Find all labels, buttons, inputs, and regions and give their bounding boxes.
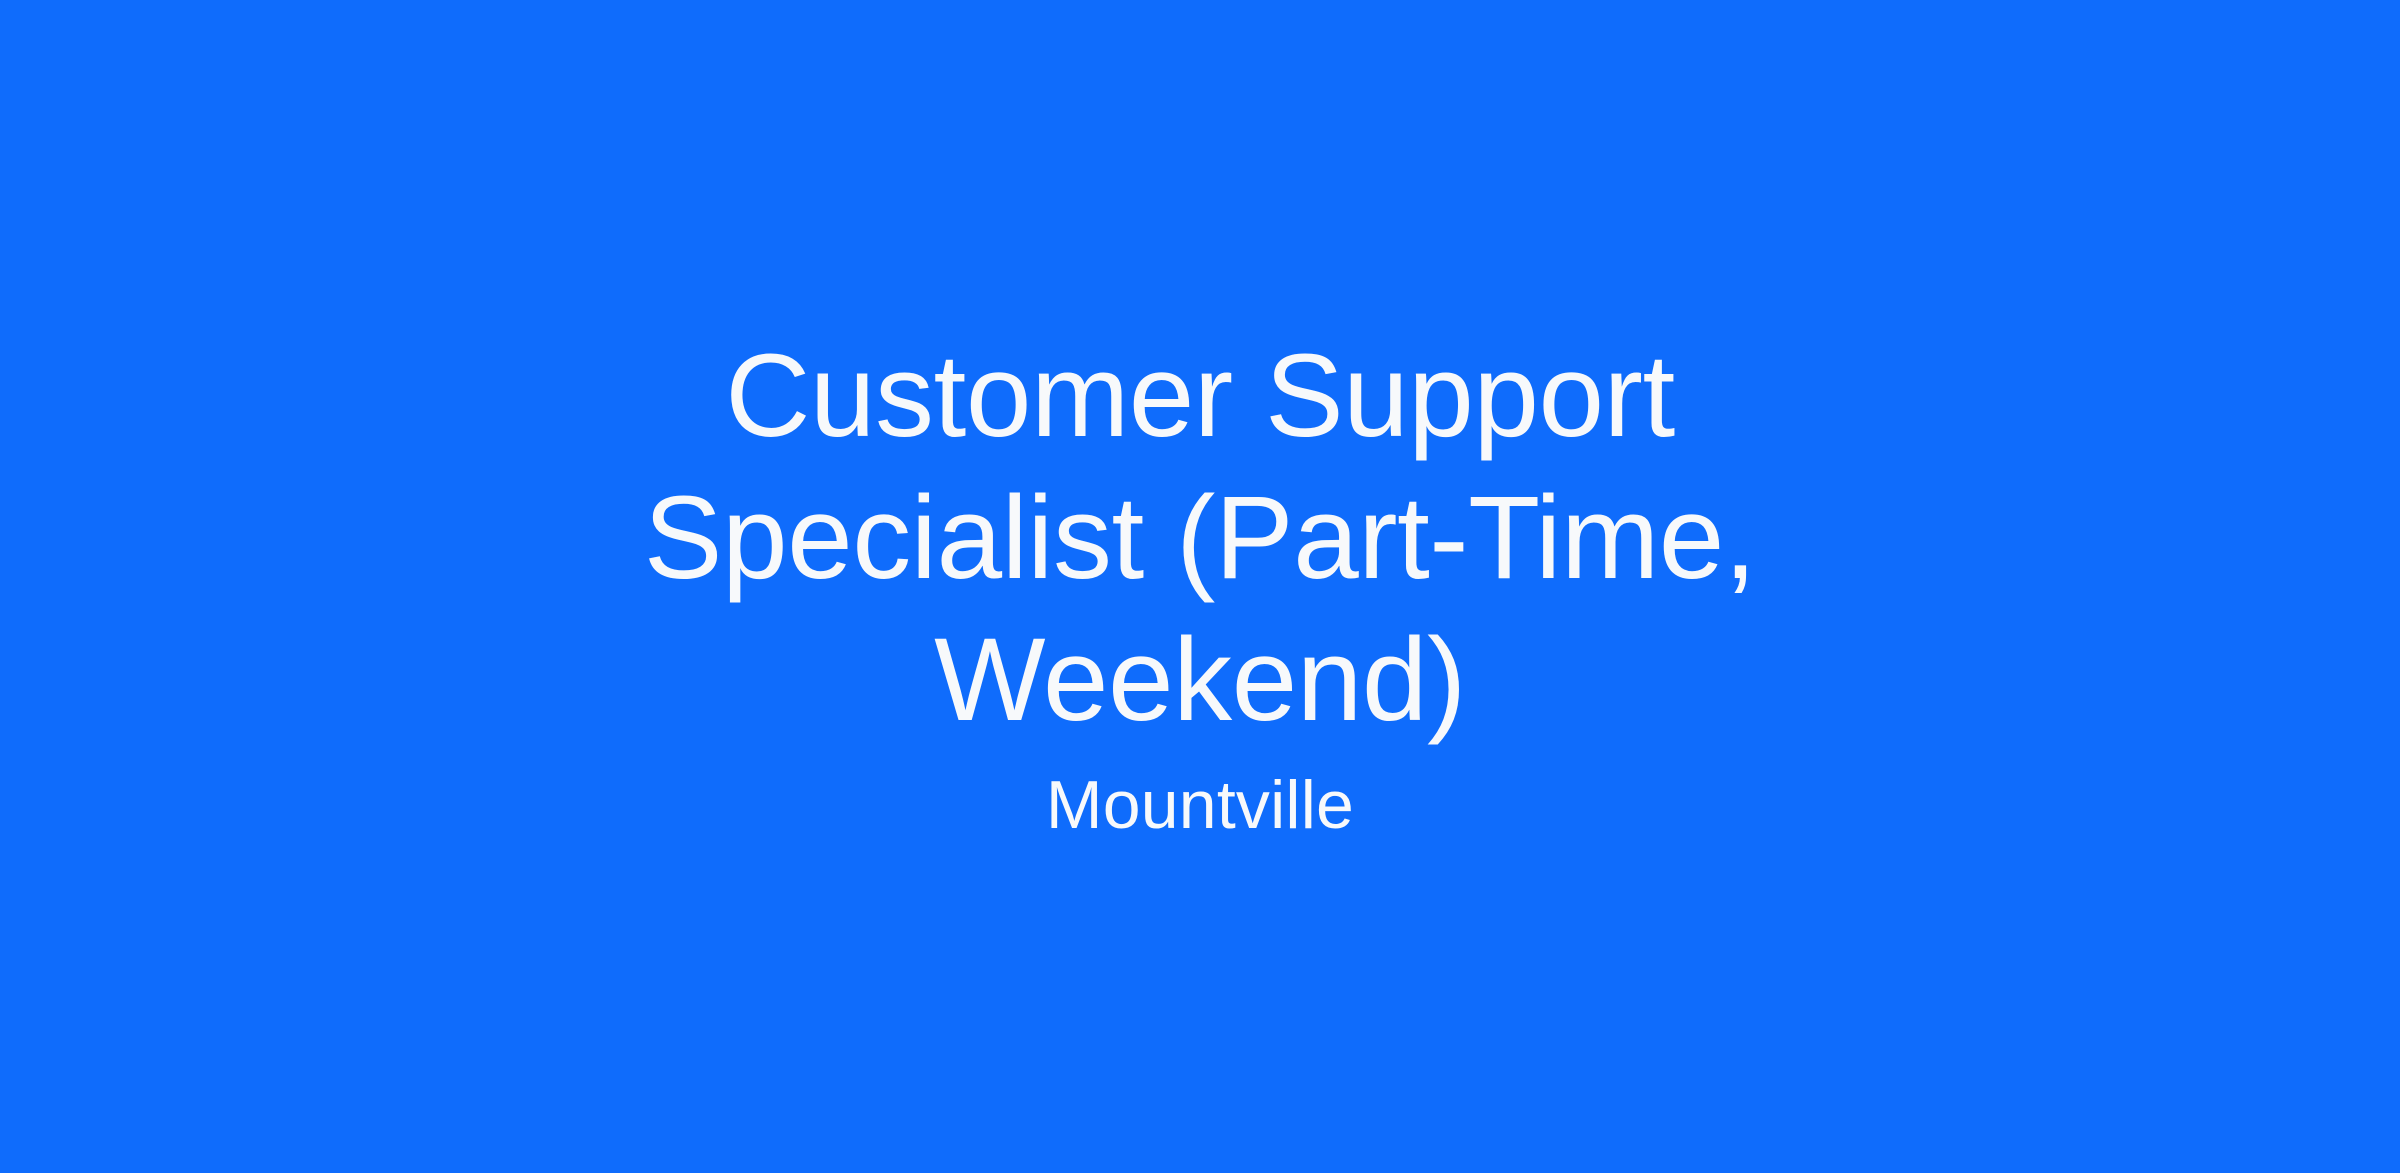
page-title: Customer Support Specialist (Part-Time, … [555,326,1845,751]
job-posting-hero: Customer Support Specialist (Part-Time, … [0,0,2400,1173]
job-location: Mountville [1046,765,1354,847]
hero-content: Customer Support Specialist (Part-Time, … [555,326,1845,846]
